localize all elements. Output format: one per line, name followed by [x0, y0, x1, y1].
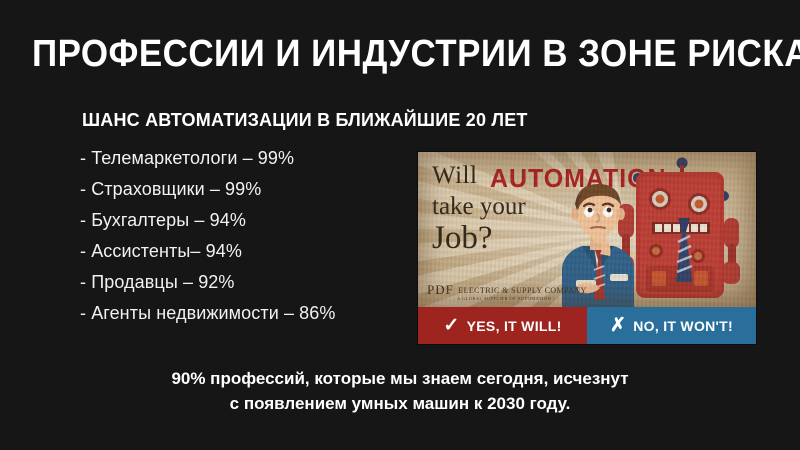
- logo-tagline: A GLOBAL SUPPLIER OF AUTOMATION: [457, 296, 587, 301]
- summary-caption: 90% профессий, которые мы знаем сегодня,…: [60, 366, 740, 416]
- section-subtitle: ШАНС АВТОМАТИЗАЦИИ В БЛИЖАЙШИЕ 20 ЛЕТ: [82, 110, 528, 131]
- list-item: - Бухгалтеры – 94%: [80, 205, 336, 236]
- automation-risk-list: - Телемаркетологи – 99% - Страховщики – …: [80, 143, 336, 329]
- check-icon: ✓: [443, 316, 459, 335]
- poster-headline-will: Will: [432, 162, 477, 190]
- answer-yes-label: YES, IT WILL!: [467, 318, 562, 334]
- poster-headline-job: Job?: [432, 220, 493, 257]
- cross-icon: ✗: [610, 316, 626, 335]
- list-item: - Страховщики – 99%: [80, 174, 336, 205]
- list-item: - Агенты недвижимости – 86%: [80, 298, 336, 329]
- poster-answer-bar: ✓ YES, IT WILL! ✗ NO, IT WON'T!: [418, 307, 756, 344]
- answer-no-option[interactable]: ✗ NO, IT WON'T!: [587, 307, 756, 344]
- pdf-company-logo: PDF ELECTRIC & SUPPLY COMPANY A GLOBAL S…: [427, 280, 587, 301]
- poster-artwork: Will AUTOMATION take your Job?: [418, 152, 756, 307]
- answer-no-label: NO, IT WON'T!: [633, 318, 733, 334]
- list-item: - Телемаркетологи – 99%: [80, 143, 336, 174]
- list-item: - Ассистенты– 94%: [80, 236, 336, 267]
- presentation-slide: ПРОФЕССИИ И ИНДУСТРИИ В ЗОНЕ РИСКА ШАНС …: [0, 0, 800, 450]
- poster-headline-take-your: take your: [432, 193, 526, 221]
- logo-mark: PDF: [427, 282, 454, 297]
- page-title: ПРОФЕССИИ И ИНДУСТРИИ В ЗОНЕ РИСКА: [32, 32, 768, 76]
- automation-poster-image: Will AUTOMATION take your Job?: [418, 152, 756, 344]
- list-item: - Продавцы – 92%: [80, 267, 336, 298]
- logo-company-name: ELECTRIC & SUPPLY COMPANY: [458, 286, 586, 295]
- caption-line-1: 90% профессий, которые мы знаем сегодня,…: [60, 366, 740, 391]
- caption-line-2: с появлением умных машин к 2030 году.: [60, 391, 740, 416]
- answer-yes-option[interactable]: ✓ YES, IT WILL!: [418, 307, 587, 344]
